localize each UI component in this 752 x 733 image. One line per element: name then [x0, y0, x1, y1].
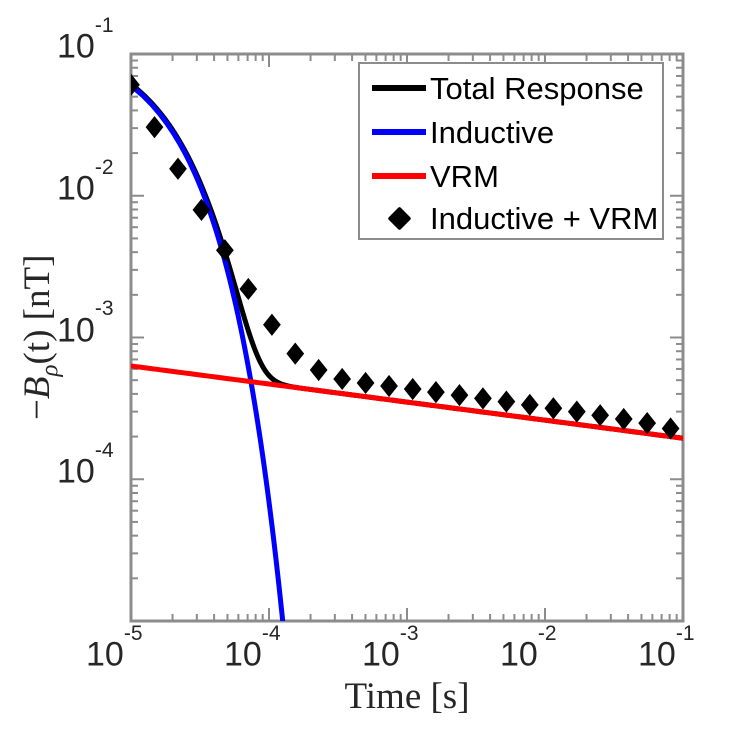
data-marker	[452, 386, 467, 405]
data-marker	[569, 402, 584, 421]
data-marker	[381, 376, 396, 395]
data-marker	[241, 279, 256, 298]
data-marker	[522, 395, 537, 414]
y-axis-label-units: [nT]	[17, 255, 58, 321]
ytick-label-3: 10-1	[57, 27, 114, 66]
ytick-label-2: 10-2	[57, 169, 114, 208]
y-axis-label: −Bρ(t) [nT]	[16, 255, 64, 420]
legend-label-inductive: Inductive	[430, 117, 554, 148]
y-axis-label-subscript: ρ	[36, 365, 63, 377]
data-marker	[593, 406, 608, 425]
data-marker	[170, 159, 185, 178]
data-marker	[147, 118, 162, 137]
xtick-label-1: 10-4	[224, 635, 281, 674]
data-marker	[616, 410, 631, 429]
data-marker	[311, 360, 326, 379]
legend-entry-inductive-plus-vrm[interactable]: Inductive + VRM	[360, 196, 662, 240]
data-marker	[335, 369, 350, 388]
data-marker	[640, 414, 655, 433]
legend-label-total-response: Total Response	[430, 73, 644, 104]
data-marker	[288, 344, 303, 363]
legend-entry-inductive[interactable]: Inductive	[360, 110, 662, 154]
legend-label-inductive-plus-vrm: Inductive + VRM	[430, 203, 658, 234]
x-axis-label: Time [s]	[291, 675, 523, 718]
xtick-label-2: 10-3	[362, 635, 419, 674]
ytick-label-1: 10-3	[57, 311, 114, 350]
data-marker	[405, 380, 420, 399]
data-marker	[499, 392, 514, 411]
data-marker	[475, 389, 490, 408]
legend[interactable]: Total Response Inductive VRM Inductive +…	[358, 62, 664, 240]
y-axis-label-space	[17, 320, 58, 329]
data-marker	[546, 399, 561, 418]
xtick-label-4: 10-1	[638, 635, 695, 674]
ytick-label-0: 10-4	[57, 452, 114, 491]
data-marker	[358, 373, 373, 392]
y-axis-label-symbol: B	[17, 377, 58, 400]
legend-entry-vrm[interactable]: VRM	[360, 154, 662, 198]
legend-key-diamond-marker	[368, 210, 430, 227]
data-marker	[428, 383, 443, 402]
data-marker	[264, 315, 279, 334]
series-vrm	[131, 366, 683, 438]
legend-key-line-black	[368, 85, 430, 91]
legend-entry-total-response[interactable]: Total Response	[360, 66, 662, 110]
xtick-label-3: 10-2	[500, 635, 557, 674]
legend-label-vrm: VRM	[430, 161, 499, 192]
legend-key-line-red	[368, 173, 430, 179]
legend-key-line-blue	[368, 129, 430, 135]
y-axis-label-minus: −	[17, 399, 58, 420]
xtick-label-0: 10-5	[86, 635, 143, 674]
y-axis-label-arg: (t)	[17, 330, 58, 365]
